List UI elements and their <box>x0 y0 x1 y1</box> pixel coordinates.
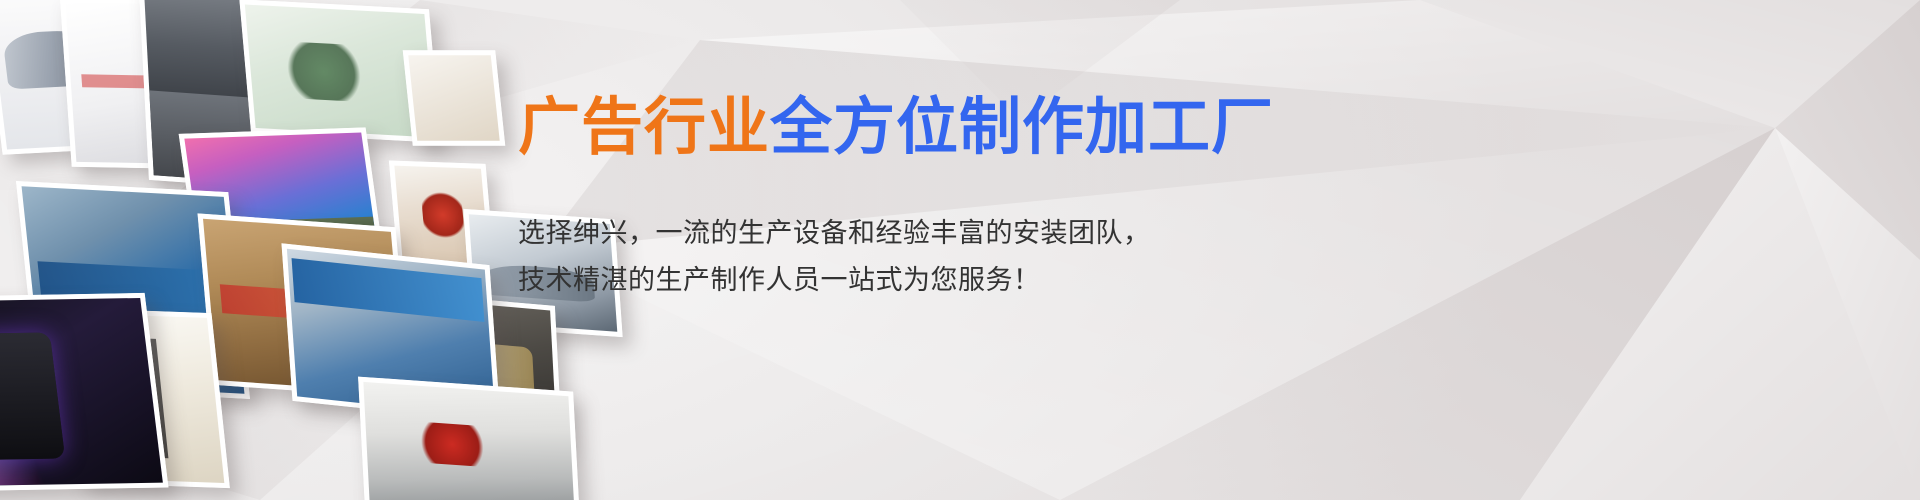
subtitle-line-2: 技术精湛的生产制作人员一站式为您服务！ <box>518 257 1278 304</box>
headline-segment-blue: 全方位制作加工厂 <box>770 90 1274 163</box>
headline-segment-orange: 广告行业 <box>518 90 770 163</box>
promo-banner: 广告行业全方位制作加工厂 选择绅兴，一流的生产设备和经验丰富的安装团队， 技术精… <box>0 0 1920 500</box>
photo-collage <box>0 0 510 500</box>
banner-subtitle: 选择绅兴，一流的生产设备和经验丰富的安装团队， 技术精湛的生产制作人员一站式为您… <box>518 158 1278 305</box>
photo-card-store-signage <box>358 377 580 500</box>
subtitle-line-1: 选择绅兴，一流的生产设备和经验丰富的安装团队， <box>518 210 1278 257</box>
photo-card-phone-lightbox <box>0 293 168 491</box>
photo-card-small-print <box>403 50 506 145</box>
page-title: 广告行业全方位制作加工厂 <box>518 96 1278 158</box>
banner-copy: 广告行业全方位制作加工厂 选择绅兴，一流的生产设备和经验丰富的安装团队， 技术精… <box>518 96 1278 305</box>
